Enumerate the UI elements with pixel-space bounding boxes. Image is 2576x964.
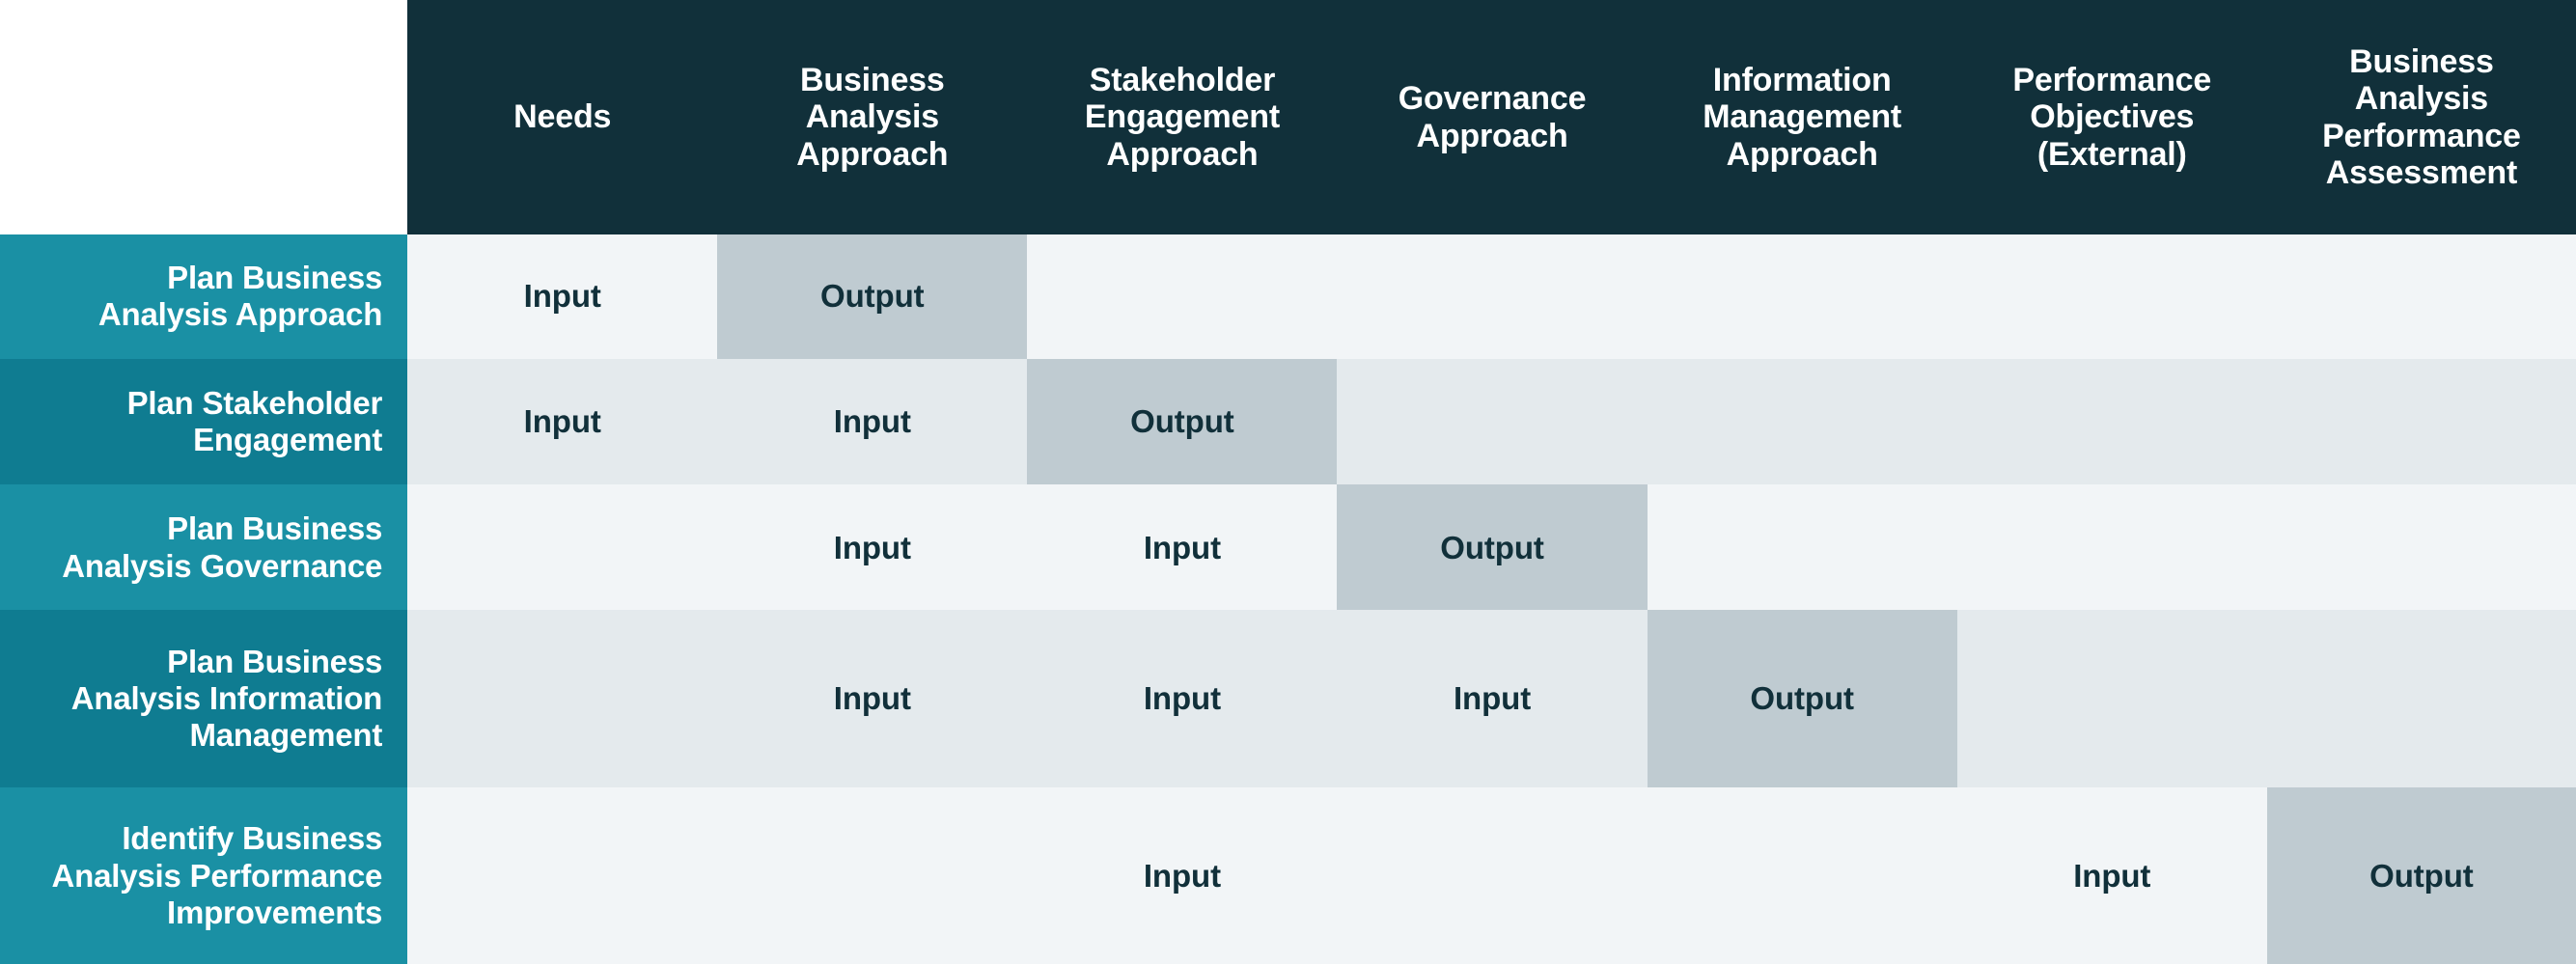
matrix-cell-empty — [1957, 359, 2267, 484]
matrix-cell-input: Input — [717, 610, 1027, 786]
row-label-line: Identify Business — [14, 820, 382, 857]
column-header-stakeholder-engagement-approach: StakeholderEngagementApproach — [1027, 0, 1337, 234]
column-header-information-management-approach: InformationManagementApproach — [1648, 0, 1957, 234]
column-header-line: Assessment — [2281, 154, 2562, 191]
matrix-cell-output: Output — [2267, 787, 2576, 964]
matrix-row: Plan BusinessAnalysis InformationManagem… — [0, 610, 2576, 786]
matrix-cell-empty — [1648, 484, 1957, 610]
matrix-row: Plan BusinessAnalysis ApproachInputOutpu… — [0, 234, 2576, 359]
column-header-line: Business — [2281, 43, 2562, 80]
row-label-line: Plan Business — [14, 260, 382, 296]
matrix-cell-empty — [1648, 234, 1957, 359]
matrix-cell-empty — [1957, 234, 2267, 359]
matrix-cell-empty — [2267, 610, 2576, 786]
row-label-line: Analysis Information — [14, 680, 382, 717]
column-header-performance-objectives-external: PerformanceObjectives(External) — [1957, 0, 2267, 234]
matrix-cell-output: Output — [717, 234, 1027, 359]
column-header-line: Information — [1661, 62, 1944, 98]
matrix-header: NeedsBusinessAnalysisApproachStakeholder… — [0, 0, 2576, 234]
matrix-cell-output: Output — [1648, 610, 1957, 786]
row-label-line: Plan Stakeholder — [14, 385, 382, 422]
column-header-business-analysis-performance-assessment: BusinessAnalysisPerformanceAssessment — [2267, 0, 2576, 234]
matrix-table: NeedsBusinessAnalysisApproachStakeholder… — [0, 0, 2576, 964]
header-row: NeedsBusinessAnalysisApproachStakeholder… — [0, 0, 2576, 234]
matrix-cell-output: Output — [1337, 484, 1647, 610]
matrix-cell-input: Input — [717, 484, 1027, 610]
matrix-cell-input: Input — [407, 359, 717, 484]
row-label-line: Analysis Performance — [14, 858, 382, 895]
matrix-cell-empty — [407, 610, 717, 786]
matrix-body: Plan BusinessAnalysis ApproachInputOutpu… — [0, 234, 2576, 964]
row-label-line: Engagement — [14, 422, 382, 458]
matrix-cell-empty — [407, 484, 717, 610]
matrix-cell-input: Input — [407, 234, 717, 359]
row-label-plan-business-analysis-information-management: Plan BusinessAnalysis InformationManagem… — [0, 610, 407, 786]
matrix-cell-input: Input — [1027, 610, 1337, 786]
column-header-line: Performance — [2281, 118, 2562, 154]
matrix-row: Plan StakeholderEngagementInputInputOutp… — [0, 359, 2576, 484]
column-header-line: Stakeholder — [1040, 62, 1323, 98]
column-header-line: Analysis — [731, 98, 1013, 135]
column-header-line: Objectives — [1971, 98, 2254, 135]
column-header-line: Governance — [1350, 80, 1633, 117]
column-header-line: Needs — [421, 98, 704, 135]
matrix-cell-empty — [2267, 234, 2576, 359]
column-header-business-analysis-approach: BusinessAnalysisApproach — [717, 0, 1027, 234]
matrix-cell-empty — [2267, 484, 2576, 610]
column-header-line: Analysis — [2281, 80, 2562, 117]
row-label-identify-business-analysis-performance-improvements: Identify BusinessAnalysis PerformanceImp… — [0, 787, 407, 964]
row-label-line: Management — [14, 717, 382, 754]
column-header-line: Performance — [1971, 62, 2254, 98]
column-header-line: Approach — [1350, 118, 1633, 154]
matrix-cell-empty — [2267, 359, 2576, 484]
row-label-line: Analysis Governance — [14, 548, 382, 585]
row-label-line: Analysis Approach — [14, 296, 382, 333]
matrix-cell-input: Input — [717, 359, 1027, 484]
row-label-line: Plan Business — [14, 644, 382, 680]
column-header-line: (External) — [1971, 136, 2254, 173]
matrix-cell-input: Input — [1027, 484, 1337, 610]
row-label-plan-business-analysis-governance: Plan BusinessAnalysis Governance — [0, 484, 407, 610]
matrix-cell-empty — [1337, 359, 1647, 484]
column-header-line: Management — [1661, 98, 1944, 135]
matrix-cell-input: Input — [407, 787, 1957, 964]
column-header-needs: Needs — [407, 0, 717, 234]
row-label-plan-stakeholder-engagement: Plan StakeholderEngagement — [0, 359, 407, 484]
matrix-cell-output: Output — [1027, 359, 1337, 484]
row-label-line: Improvements — [14, 895, 382, 931]
matrix-cell-empty — [1648, 359, 1957, 484]
matrix-cell-input: Input — [1337, 610, 1647, 786]
matrix-row: Identify BusinessAnalysis PerformanceImp… — [0, 787, 2576, 964]
matrix-cell-empty — [1957, 610, 2267, 786]
column-header-line: Engagement — [1040, 98, 1323, 135]
matrix-cell-empty — [1027, 234, 1337, 359]
row-label-plan-business-analysis-approach: Plan BusinessAnalysis Approach — [0, 234, 407, 359]
row-label-line: Plan Business — [14, 510, 382, 547]
column-header-line: Approach — [1040, 136, 1323, 173]
matrix-cell-empty — [1337, 234, 1647, 359]
matrix-row: Plan BusinessAnalysis GovernanceInputInp… — [0, 484, 2576, 610]
column-header-line: Business — [731, 62, 1013, 98]
corner-cell — [0, 0, 407, 234]
column-header-line: Approach — [1661, 136, 1944, 173]
column-header-line: Approach — [731, 136, 1013, 173]
input-output-matrix: NeedsBusinessAnalysisApproachStakeholder… — [0, 0, 2576, 964]
column-header-governance-approach: GovernanceApproach — [1337, 0, 1647, 234]
matrix-cell-empty — [1957, 484, 2267, 610]
matrix-cell-input: Input — [1957, 787, 2267, 964]
